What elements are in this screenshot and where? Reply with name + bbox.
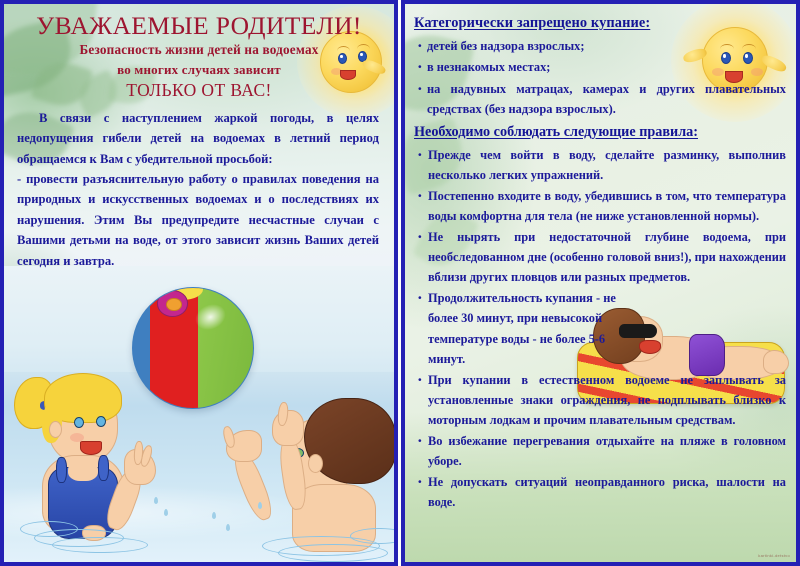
- list-item: Не допускать ситуаций неоправданного рис…: [414, 472, 786, 512]
- heading-forbidden-swimming: Категорически запрещено купание:: [414, 12, 786, 35]
- boy-finger: [221, 425, 236, 449]
- girl-ear: [49, 421, 62, 438]
- left-title-block: УВАЖАЕМЫЕ РОДИТЕЛИ! Безопасность жизни д…: [4, 4, 394, 103]
- rules-list: Прежде чем войти в воду, сделайте размин…: [414, 145, 786, 513]
- girl-eye-right: [96, 416, 106, 427]
- water-droplet: [212, 512, 216, 519]
- list-item: детей без надзора взрослых;: [414, 36, 714, 56]
- poster-main-title: УВАЖАЕМЫЕ РОДИТЕЛИ!: [18, 13, 380, 39]
- list-item: Постепенно входите в воду, убедившись в …: [414, 186, 786, 226]
- list-item: Продолжительность купания - не более 30 …: [414, 288, 629, 368]
- list-item: на надувных матрацах, камерах и других п…: [414, 79, 786, 119]
- list-item: Не нырять при недостаточной глубине водо…: [414, 227, 786, 287]
- left-body-text: В связи с наступлением жаркой погоды, в …: [4, 103, 394, 271]
- list-item: Во избежание перегревания отдыхайте на п…: [414, 431, 786, 471]
- right-body-text: Категорически запрещено купание: детей б…: [405, 4, 796, 512]
- list-item: Прежде чем войти в воду, сделайте размин…: [414, 145, 786, 185]
- list-item: в незнакомых местах;: [414, 57, 714, 77]
- left-paragraph-1: В связи с наступлением жаркой погоды, в …: [17, 108, 379, 169]
- water-droplet: [226, 524, 230, 531]
- girl-swimsuit-strap-right: [98, 455, 109, 481]
- water-droplet: [154, 497, 158, 504]
- water-ripple: [278, 544, 388, 562]
- girl-cheek: [70, 433, 84, 442]
- poster-subtitle-2: во многих случаях зависит: [18, 60, 380, 80]
- left-paragraph-2: - провести разъяснительную работу о прав…: [17, 169, 379, 271]
- poster-root: УВАЖАЕМЫЕ РОДИТЕЛИ! Безопасность жизни д…: [0, 0, 800, 566]
- watermark-text: kartinki-detstvo: [758, 553, 790, 558]
- right-panel: Категорически запрещено купание: детей б…: [401, 0, 800, 566]
- boy-illustration: [200, 392, 394, 562]
- girl-neckline: [68, 459, 98, 481]
- girl-mouth: [80, 441, 102, 455]
- poster-subtitle-3: ТОЛЬКО ОТ ВАС!: [18, 79, 380, 103]
- water-ripple: [52, 537, 148, 553]
- heading-required-rules: Необходимо соблюдать следующие правила:: [414, 121, 786, 144]
- list-item: При купании в естественном водоеме не за…: [414, 370, 786, 430]
- ball-cap-icon: [157, 290, 188, 316]
- left-panel-inner: УВАЖАЕМЫЕ РОДИТЕЛИ! Безопасность жизни д…: [4, 4, 394, 562]
- poster-subtitle-1: Безопасность жизни детей на водоемах: [18, 40, 380, 60]
- girl-swimsuit-strap-left: [56, 457, 67, 483]
- right-panel-inner: Категорически запрещено купание: детей б…: [405, 4, 796, 562]
- girl-illustration: [12, 359, 187, 559]
- boy-ear: [308, 454, 323, 473]
- girl-eye-left: [74, 417, 84, 428]
- water-droplet: [258, 502, 262, 509]
- water-droplet: [164, 509, 168, 516]
- left-panel: УВАЖАЕМЫЕ РОДИТЕЛИ! Безопасность жизни д…: [0, 0, 398, 566]
- forbidden-list: детей без надзора взрослых; в незнакомых…: [414, 36, 786, 118]
